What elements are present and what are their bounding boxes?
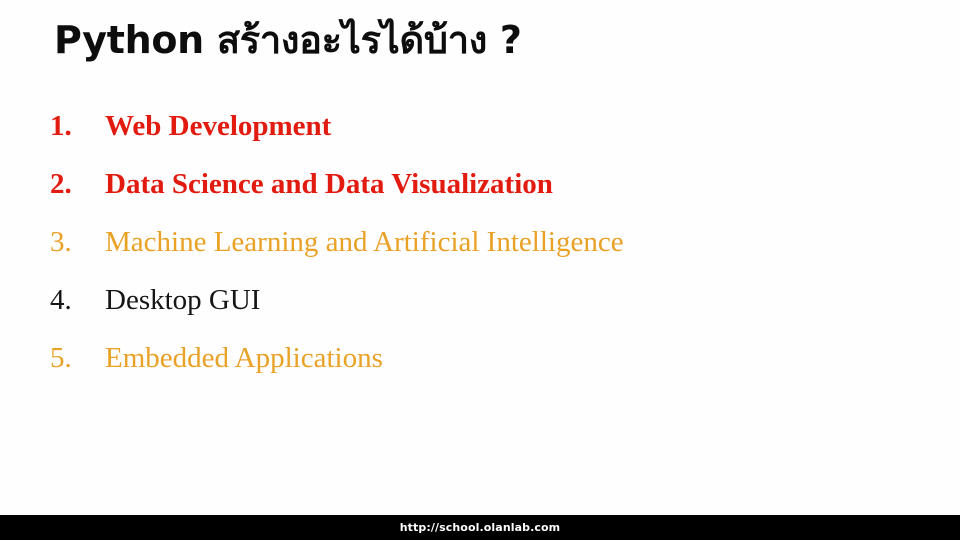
list-item: 5. Embedded Applications — [50, 340, 910, 398]
presentation-slide: Python สร้างอะไรได้บ้าง ? 1. Web Develop… — [0, 0, 960, 540]
list-item-number: 1. — [50, 108, 105, 144]
list-item: 3. Machine Learning and Artificial Intel… — [50, 224, 910, 282]
list-item-number: 4. — [50, 282, 105, 318]
numbered-list: 1. Web Development 2. Data Science and D… — [50, 108, 910, 398]
list-item: 1. Web Development — [50, 108, 910, 166]
footer-bar: http://school.olanlab.com — [0, 515, 960, 540]
list-item-label: Web Development — [105, 108, 331, 144]
footer-url[interactable]: http://school.olanlab.com — [400, 521, 561, 534]
page-title: Python สร้างอะไรได้บ้าง ? — [54, 14, 522, 66]
list-item-number: 3. — [50, 224, 105, 260]
list-item-number: 2. — [50, 166, 105, 202]
list-item-label: Machine Learning and Artificial Intellig… — [105, 224, 624, 260]
list-item-label: Desktop GUI — [105, 282, 260, 318]
list-item: 4. Desktop GUI — [50, 282, 910, 340]
list-item: 2. Data Science and Data Visualization — [50, 166, 910, 224]
list-item-label: Embedded Applications — [105, 340, 383, 376]
list-item-label: Data Science and Data Visualization — [105, 166, 553, 202]
list-item-number: 5. — [50, 340, 105, 376]
